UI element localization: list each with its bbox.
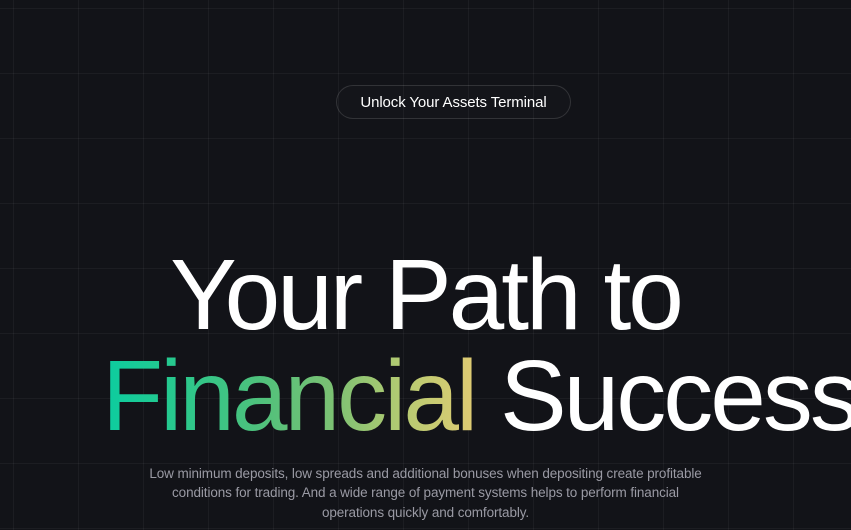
hero-section: Unlock Your Assets Terminal Your Path to… [0,0,851,530]
hero-content: Unlock Your Assets Terminal Your Path to… [0,0,851,530]
headline-plain-word: Success [475,340,851,452]
hero-description-line-3: operations quickly and comfortably. [0,503,851,523]
badge-label: Unlock Your Assets Terminal [360,94,546,111]
page-title: Your Path to Financial Success [0,245,851,447]
hero-description: Low minimum deposits, low spreads and ad… [0,464,851,523]
headline-line-2: Financial Success [102,346,851,447]
hero-description-line-2: conditions for trading. And a wide range… [0,483,851,503]
headline-gradient-word: Financial [102,340,475,452]
headline-line-1: Your Path to [0,245,851,346]
badge-pill[interactable]: Unlock Your Assets Terminal [336,85,571,119]
hero-description-line-1: Low minimum deposits, low spreads and ad… [0,464,851,484]
